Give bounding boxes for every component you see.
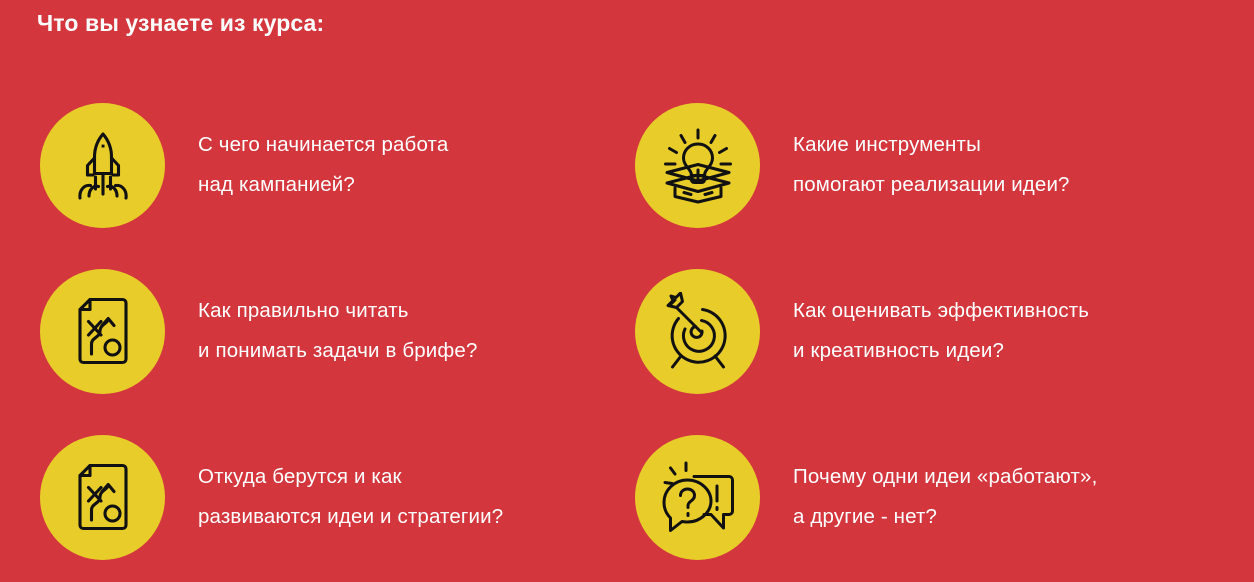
benefit-item: Как оценивать эффективность и креативнос…: [595, 248, 1194, 414]
benefit-line-2: и креативность идеи?: [793, 331, 1089, 371]
benefit-line-1: Почему одни идеи «работают»,: [793, 457, 1097, 497]
icon-badge: [40, 269, 165, 394]
benefit-line-2: и понимать задачи в брифе?: [198, 331, 478, 371]
benefit-item: Откуда берутся и как развиваются идеи и …: [0, 414, 597, 580]
benefit-item: С чего начинается работа над кампанией?: [0, 82, 597, 248]
target-arrow-icon: [659, 292, 737, 370]
benefit-text: Откуда берутся и как развиваются идеи и …: [198, 457, 503, 537]
benefit-line-2: развиваются идеи и стратегии?: [198, 497, 503, 537]
benefit-line-1: Какие инструменты: [793, 125, 1070, 165]
icon-badge: [40, 103, 165, 228]
benefit-line-1: С чего начинается работа: [198, 125, 448, 165]
icon-badge: [635, 269, 760, 394]
benefit-line-1: Как оценивать эффективность: [793, 291, 1089, 331]
benefit-text: С чего начинается работа над кампанией?: [198, 125, 448, 205]
benefit-item: Какие инструменты помогают реализации ид…: [595, 82, 1194, 248]
icon-badge: [635, 435, 760, 560]
benefit-line-1: Откуда берутся и как: [198, 457, 503, 497]
icon-badge: [635, 103, 760, 228]
lightbulb-box-icon: [659, 126, 737, 204]
benefit-line-1: Как правильно читать: [198, 291, 478, 331]
page-title: Что вы узнаете из курса:: [37, 10, 324, 37]
benefit-text: Как оценивать эффективность и креативнос…: [793, 291, 1089, 371]
course-benefits-section: Что вы узнаете из курса:: [0, 0, 1254, 582]
benefit-text: Почему одни идеи «работают», а другие - …: [793, 457, 1097, 537]
benefits-grid: С чего начинается работа над кампанией?: [0, 82, 1254, 580]
benefit-text: Как правильно читать и понимать задачи в…: [198, 291, 478, 371]
rocket-icon: [66, 128, 140, 202]
icon-badge: [40, 435, 165, 560]
strategy-document-icon: [67, 461, 139, 533]
speech-bubbles-question-exclamation-icon: [659, 458, 737, 536]
benefit-text: Какие инструменты помогают реализации ид…: [793, 125, 1070, 205]
benefit-line-2: а другие - нет?: [793, 497, 1097, 537]
benefit-line-2: над кампанией?: [198, 165, 448, 205]
benefit-item: Как правильно читать и понимать задачи в…: [0, 248, 597, 414]
benefit-item: Почему одни идеи «работают», а другие - …: [595, 414, 1194, 580]
strategy-document-icon: [67, 295, 139, 367]
benefit-line-2: помогают реализации идеи?: [793, 165, 1070, 205]
